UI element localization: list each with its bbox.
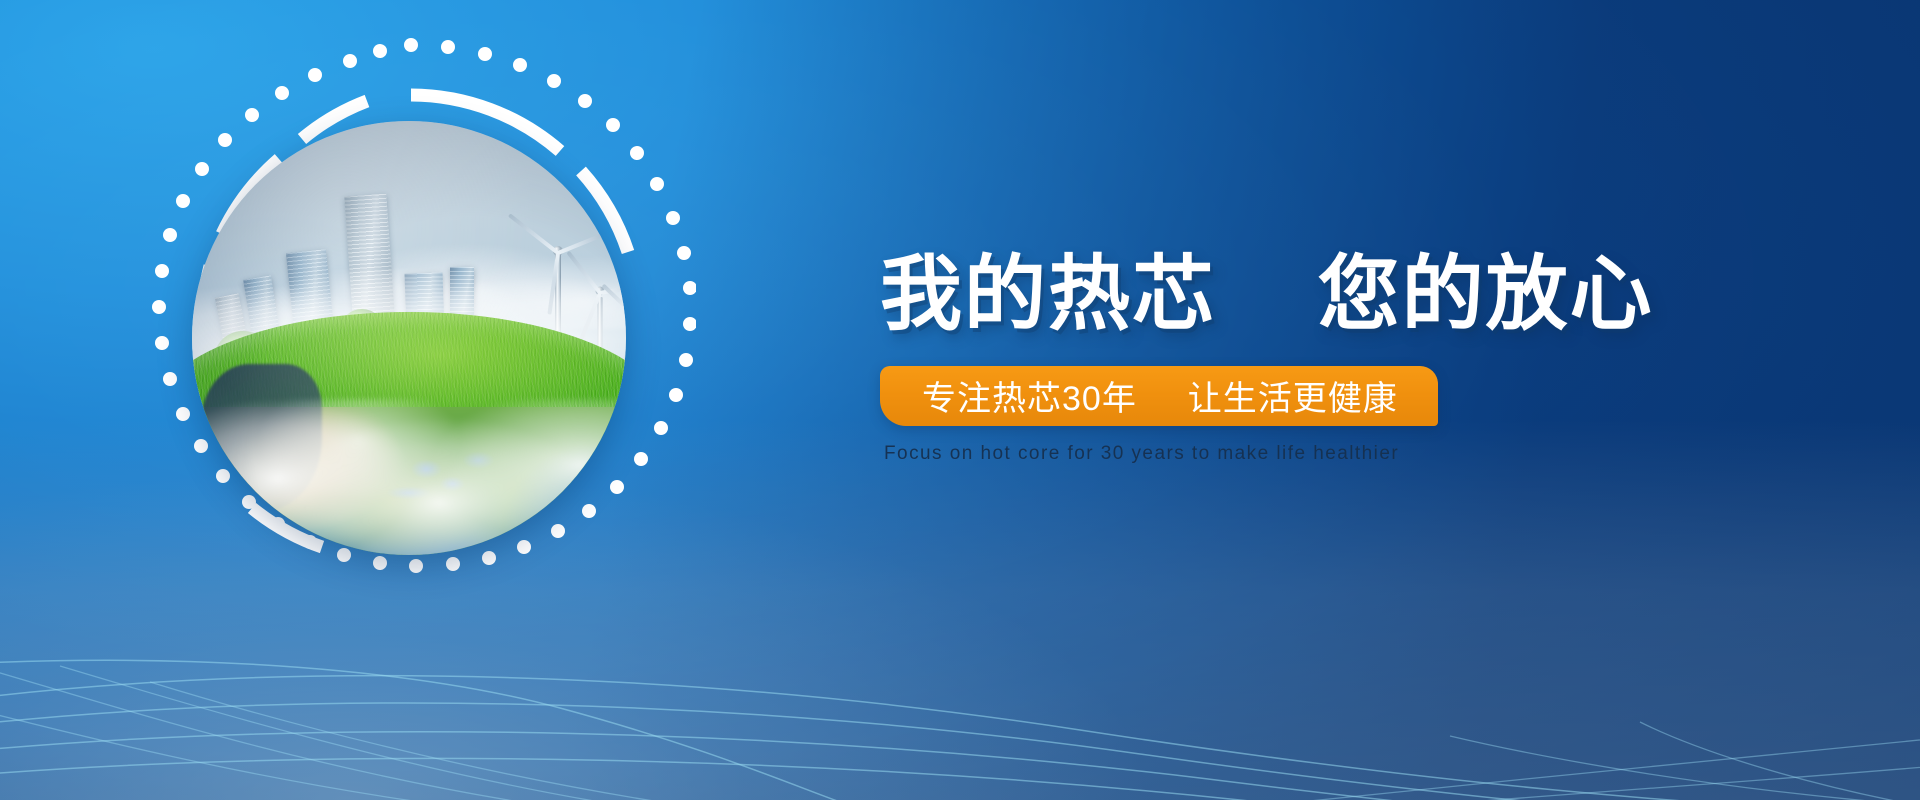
banner-copy: 我的热芯 您的放心 专注热芯30年 让生活更健康 Focus on hot co… — [880, 252, 1720, 465]
hero-banner: 我的热芯 您的放心 专注热芯30年 让生活更健康 Focus on hot co… — [0, 0, 1920, 800]
badge-part-1: 专注热芯30年 — [922, 380, 1137, 418]
tagline-badge: 专注热芯30年 让生活更健康 — [880, 366, 1438, 426]
badge-text: 专注热芯30年 让生活更健康 — [922, 371, 1398, 420]
headline-part-1: 我的热芯 — [880, 249, 1216, 340]
banner-headline: 我的热芯 您的放心 — [880, 252, 1720, 339]
globe-shading — [192, 121, 626, 555]
banner-subtitle: Focus on hot core for 30 years to make l… — [884, 443, 1720, 465]
globe-image — [192, 121, 626, 555]
eco-globe-graphic — [126, 38, 696, 608]
badge-part-2: 让生活更健康 — [1188, 380, 1398, 418]
headline-part-2: 您的放心 — [1318, 249, 1654, 340]
